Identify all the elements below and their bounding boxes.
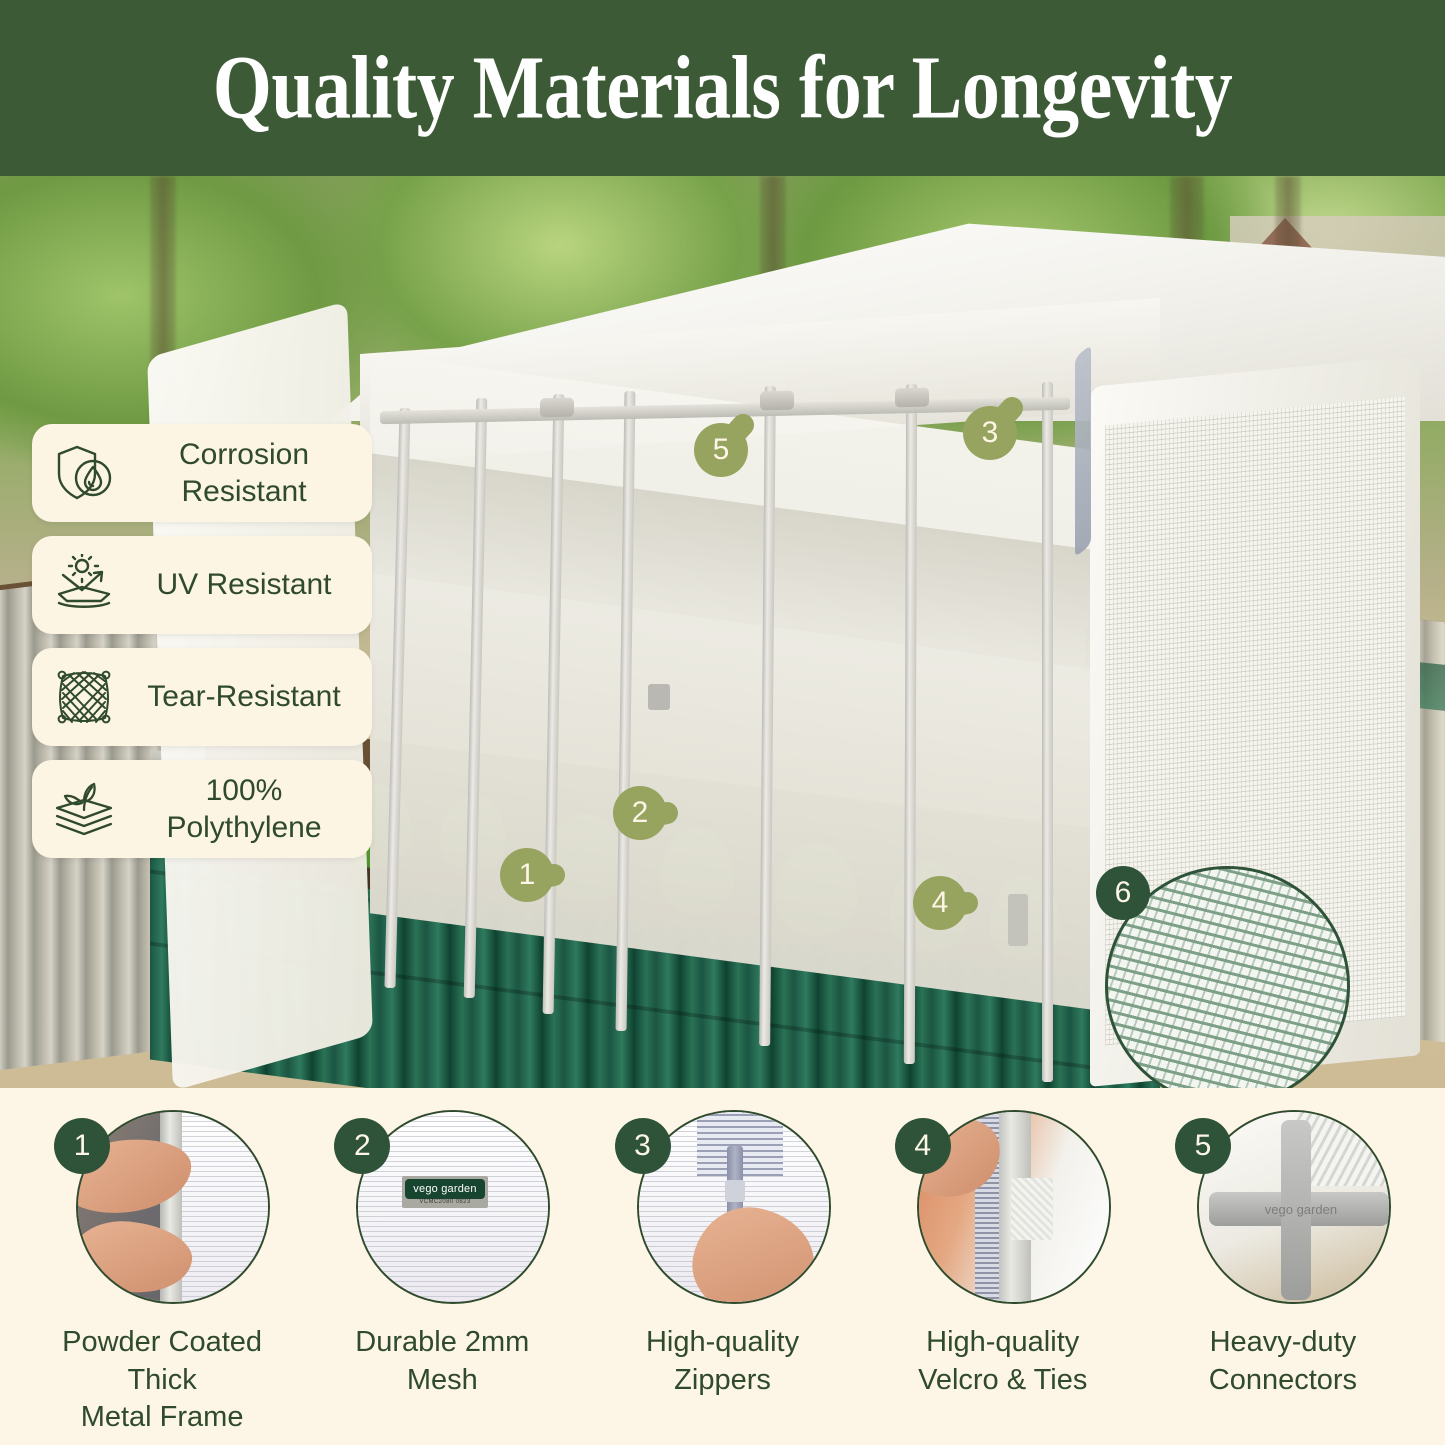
feature-label-corrosion-resistant: Corrosion Resistant (132, 436, 356, 511)
fabric-clip (648, 684, 670, 710)
brand-code: VCMC2080 0823 (405, 1199, 484, 1205)
detail-item-1[interactable]: 1 Powder Coated Thick Metal Frame (22, 1110, 302, 1437)
feature-label-uv-resistant: UV Resistant (132, 566, 356, 604)
photo-marker-1[interactable]: 1 (500, 848, 554, 902)
thumb-badge-1-number: 1 (74, 1129, 91, 1163)
rail-joint (895, 388, 929, 408)
feature-line-1: 100% (206, 774, 283, 807)
thumb-badge-5-number: 5 (1195, 1129, 1212, 1163)
thumb-caption-4-line1: High-quality (926, 1326, 1079, 1358)
thumb-wrap-5: vego garden 5 (1175, 1110, 1391, 1310)
thumb-wrap-3: 3 (615, 1110, 831, 1310)
photo-marker-2[interactable]: 2 (613, 786, 667, 840)
thumb-badge-4: 4 (895, 1118, 951, 1174)
thumb-caption-2-line2: Mesh (407, 1364, 478, 1396)
detail-item-3[interactable]: 3 High-quality Zippers (582, 1110, 862, 1399)
feature-label-polythylene: 100% Polythylene (132, 772, 356, 847)
velcro-strap (1008, 894, 1028, 946)
thumb-badge-2-number: 2 (354, 1129, 371, 1163)
thumb-badge-3: 3 (615, 1118, 671, 1174)
thumb-caption-5: Heavy-duty Connectors (1209, 1324, 1357, 1399)
thumb-badge-4-number: 4 (914, 1129, 931, 1163)
frame-pole (1042, 382, 1053, 1082)
thumb-caption-5-line1: Heavy-duty (1210, 1326, 1357, 1358)
feature-card-corrosion-resistant[interactable]: Corrosion Resistant (32, 424, 372, 522)
photo-marker-1-number: 1 (519, 858, 536, 892)
hero-photo: Corrosion Resistant UV Resi (0, 176, 1445, 1088)
detail-item-4[interactable]: 4 High-quality Velcro & Ties (863, 1110, 1143, 1399)
thumb-caption-2-line1: Durable 2mm (355, 1326, 529, 1358)
thumb-caption-4: High-quality Velcro & Ties (918, 1324, 1087, 1399)
thumb-badge-2: 2 (334, 1118, 390, 1174)
thumb-caption-4-line2: Velcro & Ties (918, 1364, 1087, 1396)
rail-joint (540, 398, 574, 418)
detail-item-2[interactable]: vego garden VCMC2080 0823 2 Durable 2mm … (302, 1110, 582, 1399)
thumb-caption-1: Powder Coated Thick Metal Frame (27, 1324, 297, 1437)
photo-marker-6[interactable]: 6 (1096, 866, 1150, 920)
infographic-page: Quality Materials for Longevity (0, 0, 1445, 1445)
photo-marker-2-number: 2 (632, 796, 649, 830)
detail-thumbnail-strip: 1 Powder Coated Thick Metal Frame vego g… (0, 1088, 1445, 1445)
feature-card-tear-resistant[interactable]: Tear-Resistant (32, 648, 372, 746)
thumb-caption-1-line1: Powder Coated Thick (62, 1326, 262, 1396)
layered-sprout-icon (46, 776, 122, 842)
detail-item-5[interactable]: vego garden 5 Heavy-duty Connectors (1143, 1110, 1423, 1399)
thumb-caption-3-line2: Zippers (674, 1364, 771, 1396)
thumb-wrap-1: 1 (54, 1110, 270, 1310)
thumb-badge-1: 1 (54, 1118, 110, 1174)
feature-card-uv-resistant[interactable]: UV Resistant (32, 536, 372, 634)
shield-droplet-icon (46, 440, 122, 506)
feature-label-tear-resistant: Tear-Resistant (132, 678, 356, 716)
thumb-badge-3-number: 3 (634, 1129, 651, 1163)
feature-line-1: Corrosion (179, 438, 309, 471)
photo-marker-3[interactable]: 3 (963, 406, 1017, 460)
sun-uv-deflect-icon (46, 552, 122, 618)
page-title: Quality Materials for Longevity (213, 37, 1233, 140)
brand-name: vego garden (405, 1179, 484, 1199)
mesh-net-icon (46, 664, 122, 730)
brand-label: vego garden VCMC2080 0823 (402, 1176, 487, 1208)
feature-card-list: Corrosion Resistant UV Resi (32, 424, 372, 858)
connector-brand-text: vego garden (1241, 1200, 1361, 1218)
thumb-caption-3-line1: High-quality (646, 1326, 799, 1358)
photo-marker-3-number: 3 (982, 416, 999, 450)
thumb-wrap-4: 4 (895, 1110, 1111, 1310)
feature-card-polythylene[interactable]: 100% Polythylene (32, 760, 372, 858)
photo-marker-6-number: 6 (1115, 876, 1132, 910)
greenhouse-zipper (1075, 344, 1091, 557)
photo-marker-4[interactable]: 4 (913, 876, 967, 930)
photo-marker-5[interactable]: 5 (694, 423, 748, 477)
thumb-wrap-2: vego garden VCMC2080 0823 2 (334, 1110, 550, 1310)
thumb-caption-5-line2: Connectors (1209, 1364, 1357, 1396)
thumb-caption-2: Durable 2mm Mesh (355, 1324, 529, 1399)
photo-marker-5-number: 5 (713, 433, 730, 467)
thumb-caption-1-line2: Metal Frame (81, 1401, 244, 1433)
rail-joint (760, 391, 794, 411)
photo-marker-4-number: 4 (932, 886, 949, 920)
feature-line-2: Resistant (181, 475, 306, 508)
thumb-caption-3: High-quality Zippers (646, 1324, 799, 1399)
feature-line-2: Polythylene (166, 811, 321, 844)
header-banner: Quality Materials for Longevity (0, 0, 1445, 176)
thumb-badge-5: 5 (1175, 1118, 1231, 1174)
